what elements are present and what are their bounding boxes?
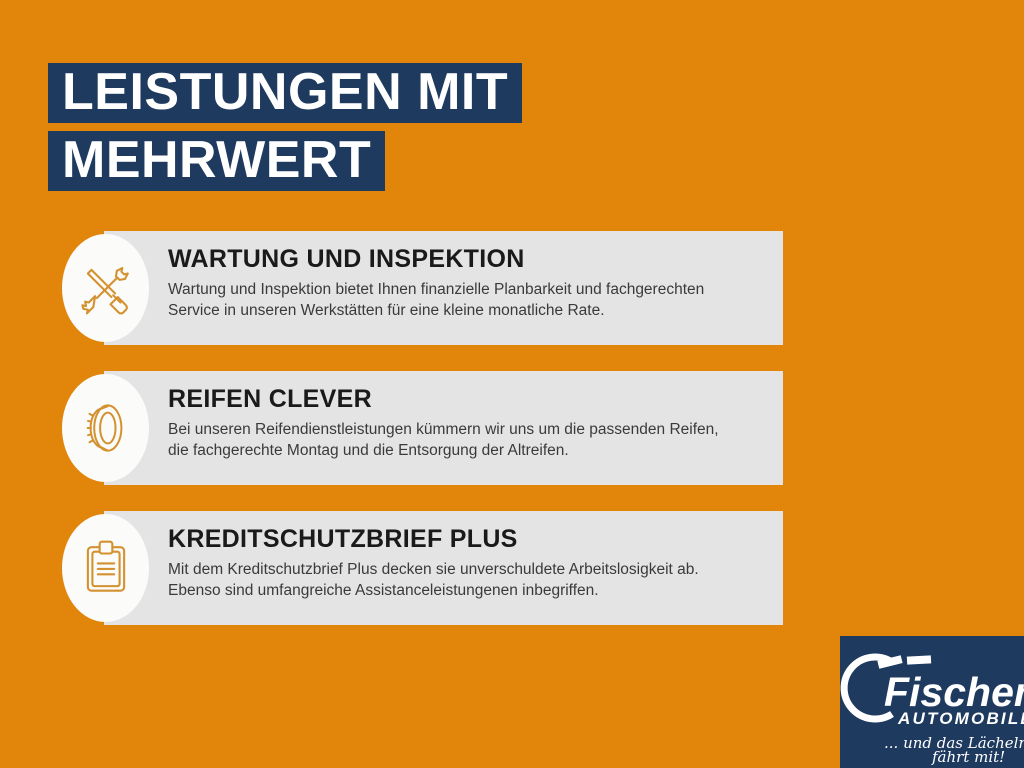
service-card-text: KREDITSCHUTZBRIEF PLUS Mit dem Kreditsch…	[168, 525, 768, 601]
wrench-screwdriver-icon	[62, 234, 149, 342]
clipboard-icon	[62, 514, 149, 622]
service-card-body: Bei unseren Reifendienstleistungen kümme…	[168, 419, 768, 461]
list-item[interactable]: WARTUNG UND INSPEKTION Wartung und Inspe…	[0, 231, 1024, 345]
logo-subtitle-text: AUTOMOBILE	[897, 709, 1024, 728]
service-card-text: REIFEN CLEVER Bei unseren Reifendienstle…	[168, 385, 768, 461]
page-title: LEISTUNGEN MIT MEHRWERT	[48, 63, 522, 199]
service-card-body: Mit dem Kreditschutzbrief Plus decken si…	[168, 559, 768, 601]
page-title-line-1: LEISTUNGEN MIT	[48, 63, 522, 123]
page-title-line-2: MEHRWERT	[48, 131, 385, 191]
service-card-body: Wartung und Inspektion bietet Ihnen fina…	[168, 279, 768, 321]
logo-tagline-line-2: fährt mit!	[931, 748, 1005, 766]
service-card-text: WARTUNG UND INSPEKTION Wartung und Inspe…	[168, 245, 768, 321]
service-card-heading: WARTUNG UND INSPEKTION	[168, 245, 768, 273]
company-logo: Fischer AUTOMOBILE ... und das Lächeln f…	[840, 636, 1024, 768]
list-item[interactable]: KREDITSCHUTZBRIEF PLUS Mit dem Kreditsch…	[0, 511, 1024, 625]
service-card-list: WARTUNG UND INSPEKTION Wartung und Inspe…	[0, 231, 1024, 651]
service-card-heading: REIFEN CLEVER	[168, 385, 768, 413]
service-card-heading: KREDITSCHUTZBRIEF PLUS	[168, 525, 768, 553]
list-item[interactable]: REIFEN CLEVER Bei unseren Reifendienstle…	[0, 371, 1024, 485]
tire-icon	[62, 374, 149, 482]
